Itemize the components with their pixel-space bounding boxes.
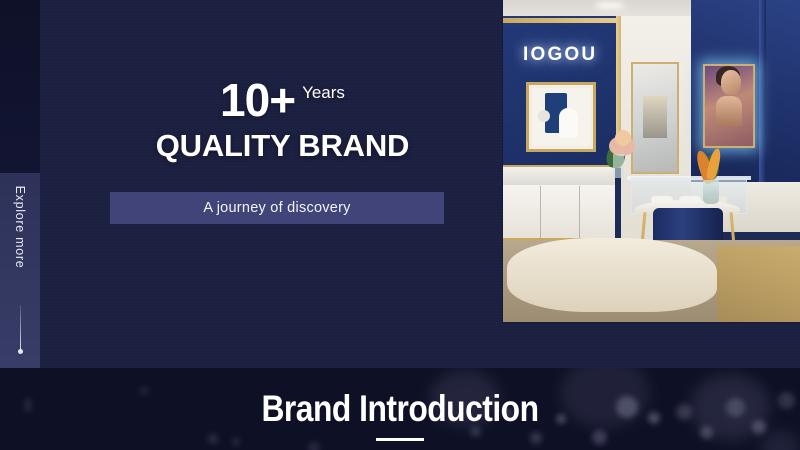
display-prop [538,110,550,122]
years-row: 10+ Years [110,78,455,123]
left-display-case [503,165,615,185]
flower-bloom [615,130,631,146]
promo-banner: Explore more 10+ Years QUALITY BRAND A j… [0,0,800,450]
flower-vase [613,154,624,178]
tagline-bar: A journey of discovery [110,192,444,224]
poster-model-body [716,96,742,126]
photo-floor-right [717,246,800,322]
down-arrow-dot-icon [18,349,23,354]
years-count: 10+ [220,78,295,123]
explore-more-label: Explore more [13,160,27,294]
cabinet-seam [540,186,541,238]
years-unit: Years [302,78,345,101]
photo-gold-trim [503,18,626,23]
hero-headline: QUALITY BRAND [110,128,455,164]
flower-vase [703,180,719,204]
explore-more-rail[interactable]: Explore more [0,0,40,368]
hero-copy: 10+ Years QUALITY BRAND [110,78,455,164]
rail-panel: Explore more [0,173,40,368]
hero-section: Explore more 10+ Years QUALITY BRAND A j… [0,0,800,368]
title-underline [376,438,424,441]
cabinet-seam [579,186,580,238]
down-arrow-line-icon [20,305,22,351]
left-cabinets [503,185,615,240]
tagline-text: A journey of discovery [203,200,350,216]
poster-model-head [721,70,741,95]
boutique-photo: IOGOU [503,0,800,322]
store-sign-text: IOGOU [523,44,597,66]
page-title: Brand Introduction [56,388,744,430]
floor-rug [507,238,717,312]
mirror-reflection [643,96,667,138]
ceiling-light-icon [595,2,625,9]
necklace-bust [559,108,578,138]
